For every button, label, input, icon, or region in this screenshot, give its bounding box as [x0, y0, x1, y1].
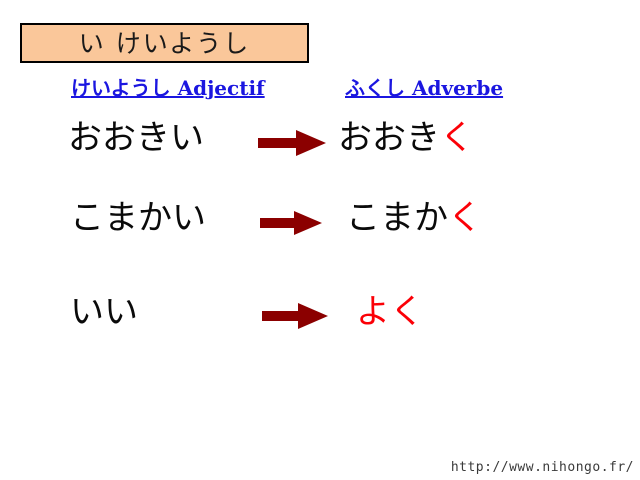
column-header-adverbe: ふくし Adverbe: [345, 78, 503, 98]
right-block-arrow-icon: [260, 210, 322, 236]
adverb-suffix: く: [448, 198, 482, 238]
right-block-arrow-icon: [262, 302, 328, 330]
table-row: こまかい こまかく: [0, 196, 640, 256]
adverb-stem: こまか: [346, 198, 448, 238]
adjective-word: こまかい: [70, 196, 206, 240]
table-row: いい よく: [0, 290, 640, 350]
table-row: おおきい おおきく: [0, 116, 640, 176]
adverb-word: よく: [356, 290, 424, 334]
slide-canvas: い けいようし けいようし Adjectif ふくし Adverbe おおきい …: [0, 0, 640, 480]
adverb-word: こまかく: [346, 196, 482, 240]
column-header-adjectif: けいようし Adjectif: [71, 78, 265, 98]
footer-url: http://www.nihongo.fr/: [451, 461, 634, 474]
right-block-arrow-icon: [258, 128, 326, 158]
adverb-word: おおきく: [338, 116, 474, 160]
title-box: い けいようし: [20, 23, 309, 63]
adverb-stem: おおき: [338, 118, 440, 158]
adjective-word: おおきい: [68, 116, 204, 160]
adjective-word: いい: [70, 290, 138, 334]
adverb-suffix: く: [440, 118, 474, 158]
page-title: い けいようし: [79, 31, 250, 56]
